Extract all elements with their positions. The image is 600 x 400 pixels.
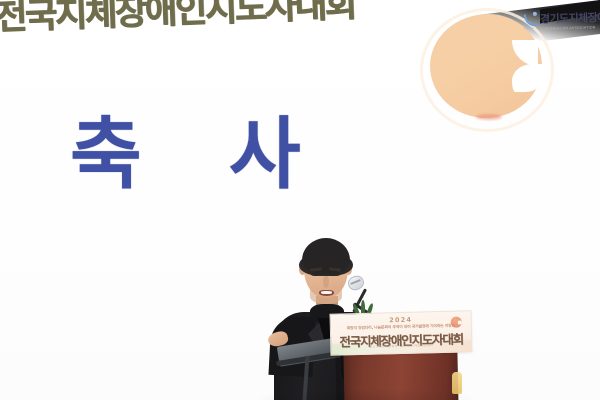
speaker-teeth bbox=[321, 291, 332, 294]
emblem-accent-dot bbox=[476, 114, 502, 120]
logo-mark-caption: KAFPD bbox=[524, 26, 534, 29]
kafpd-swoosh-icon: KAFPD bbox=[524, 11, 537, 26]
association-logo: KAFPD 경기도지체장애인 GYEONGGI-DO ASSOCIATION bbox=[524, 9, 600, 27]
podium: 2024 희망의 징검다리, 나눔문화의 주역이 되어 국가발전에 기여하는 지… bbox=[330, 312, 470, 400]
speaker-nose bbox=[323, 276, 329, 288]
screenshot-stage: 사회참여와 주역이 되어 국가발전에 기여하는 지장협 전국지체장애인지도자대회… bbox=[0, 0, 600, 400]
podium-sign-panel: 2024 희망의 징검다리, 나눔문화의 주역이 되어 국가발전에 기여하는 지… bbox=[330, 310, 473, 355]
slide-word-chuksa: 축 사 bbox=[70, 116, 331, 194]
floor-shadow bbox=[250, 388, 480, 400]
podium-emblem-notch bbox=[458, 321, 462, 325]
association-logo-text: 경기도지체장애인 bbox=[540, 9, 600, 27]
